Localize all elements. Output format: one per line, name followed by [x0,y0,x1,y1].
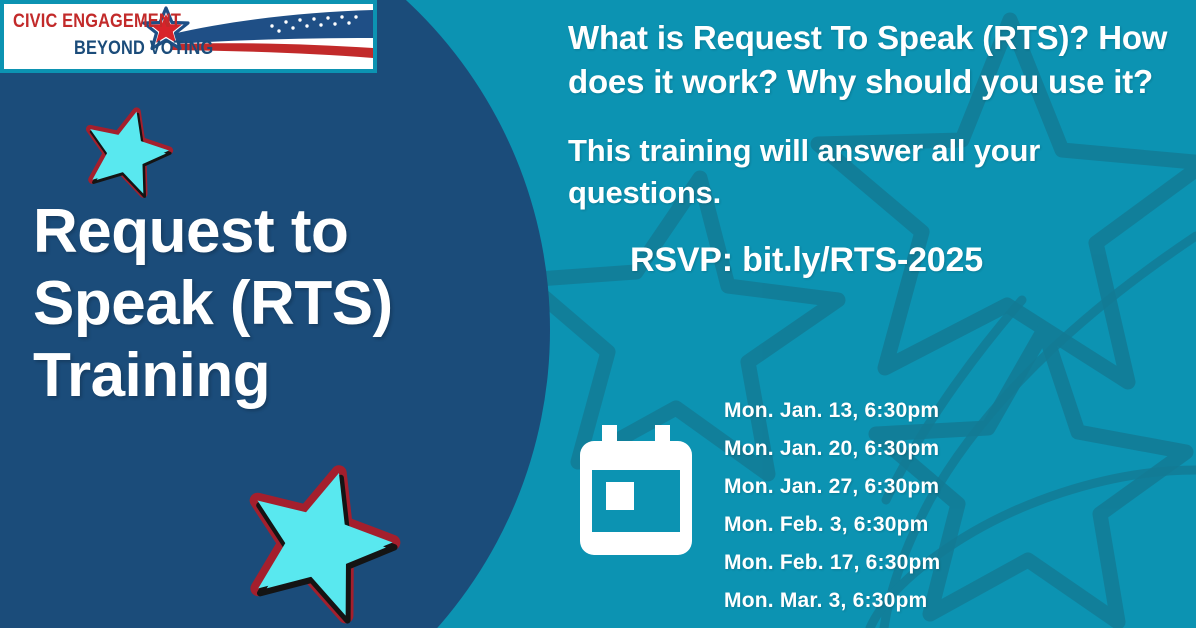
poster-canvas: CIVIC ENGAGEMENT BEYOND VOTING Request t… [0,0,1196,628]
training-description: This training will answer all your quest… [568,130,1180,214]
list-item: Mon. Jan. 27, 6:30pm [724,468,940,506]
rsvp-link[interactable]: RSVP: bit.ly/RTS-2025 [630,241,1180,280]
right-content-column: What is Request To Speak (RTS)? How does… [568,16,1180,280]
list-item: Mon. Feb. 3, 6:30pm [724,506,940,544]
list-item: Mon. Feb. 17, 6:30pm [724,544,940,582]
list-item: Mon. Mar. 3, 6:30pm [724,582,940,620]
question-heading: What is Request To Speak (RTS)? How does… [568,16,1180,104]
logo-inner: CIVIC ENGAGEMENT BEYOND VOTING [4,4,373,69]
logo-line-2: BEYOND VOTING [74,38,213,60]
session-date-list: Mon. Jan. 13, 6:30pm Mon. Jan. 20, 6:30p… [724,392,940,620]
calendar-icon [580,425,704,557]
logo-line-1: CIVIC ENGAGEMENT [13,11,181,33]
page-title: Request to Speak (RTS) Training [33,196,523,412]
organization-logo: CIVIC ENGAGEMENT BEYOND VOTING [0,0,377,73]
list-item: Mon. Jan. 20, 6:30pm [724,430,940,468]
list-item: Mon. Jan. 13, 6:30pm [724,392,940,430]
